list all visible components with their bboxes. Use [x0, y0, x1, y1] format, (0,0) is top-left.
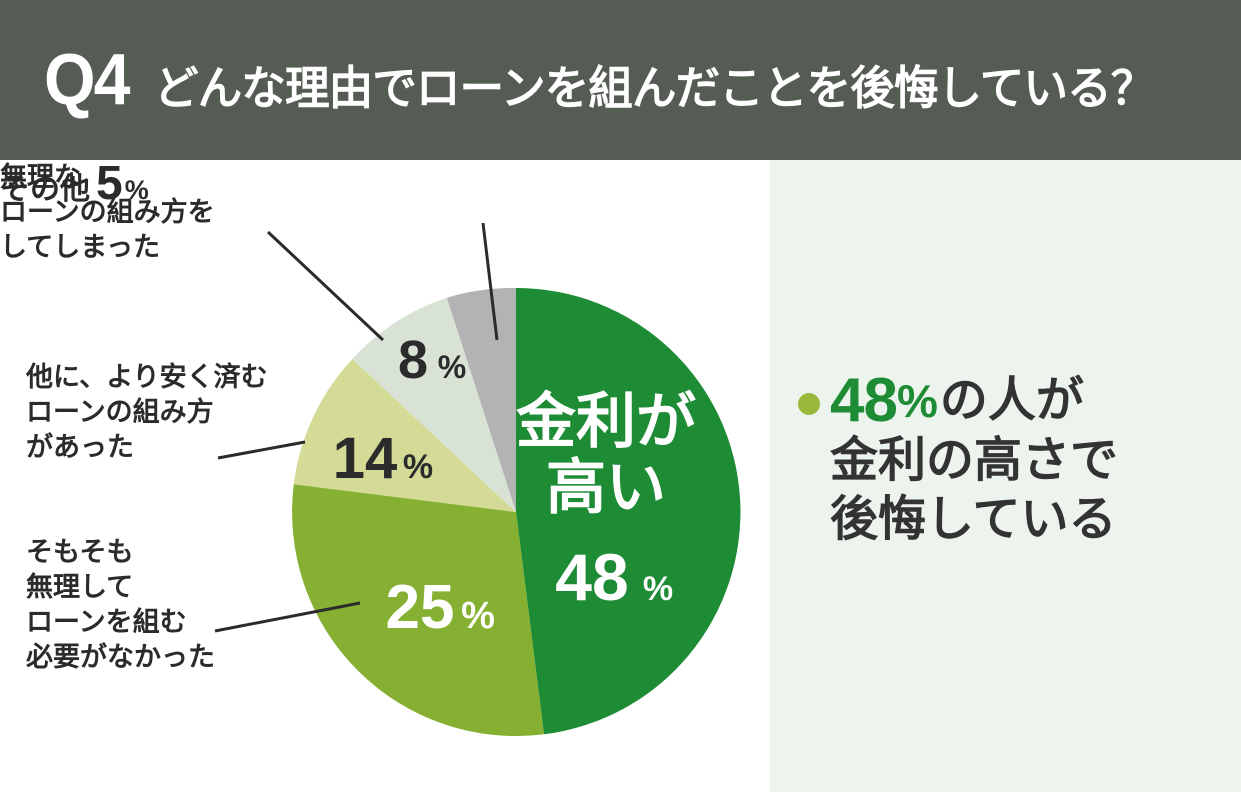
question-title: どんな理由でローンを組んだことを後悔している？: [154, 65, 1154, 111]
slice-value-14: 14: [333, 426, 398, 491]
label-cheaper-option: 他に、より安く済む ローンの組み方 があった: [26, 360, 268, 465]
callout-line-1: 48 % の人が: [798, 370, 1228, 432]
leader-line-cheaper: [268, 232, 383, 340]
pie-chart-area: 金利が 高い 48 % 25 % 14 % 8 % 他に、より安く済む ローンの…: [0, 160, 770, 792]
bullet-icon: [798, 393, 820, 415]
summary-panel: 48 % の人が 金利の高さで 後悔している ロンたす LOAN: [770, 160, 1241, 792]
slice-name-line1: 金利が: [516, 388, 696, 455]
header-content: Q4 どんな理由でローンを組んだことを後悔している？: [0, 44, 1185, 116]
slice-name-line2: 高い: [546, 454, 666, 521]
callout-line-2: 金利の高さで: [830, 432, 1228, 491]
infographic-slide: Q4 どんな理由でローンを組んだことを後悔している？ 48 % の人が 金利の高…: [0, 0, 1241, 792]
slice-unit-48: %: [643, 570, 673, 608]
label-no-need: そもそも 無理して ローンを組む 必要がなかった: [26, 535, 215, 675]
callout-line1-text: の人が: [940, 377, 1084, 425]
callout-value: 48: [830, 370, 897, 432]
callout-unit: %: [897, 378, 938, 424]
label-overdone-loan: 無理な ローンの組み方を してしまった: [0, 160, 215, 265]
question-number: Q4: [44, 44, 129, 116]
slice-value-8: 8: [398, 330, 428, 390]
callout-line-3: 後悔している: [830, 491, 1228, 550]
slice-value-48: 48: [555, 540, 628, 614]
slice-unit-14: %: [403, 448, 433, 486]
slice-value-25: 25: [386, 573, 455, 642]
header-bar: Q4 どんな理由でローンを組んだことを後悔している？: [0, 0, 1241, 160]
callout-block: 48 % の人が 金利の高さで 後悔している: [798, 370, 1228, 549]
slice-unit-8: %: [438, 349, 466, 385]
slice-unit-25: %: [461, 595, 495, 637]
